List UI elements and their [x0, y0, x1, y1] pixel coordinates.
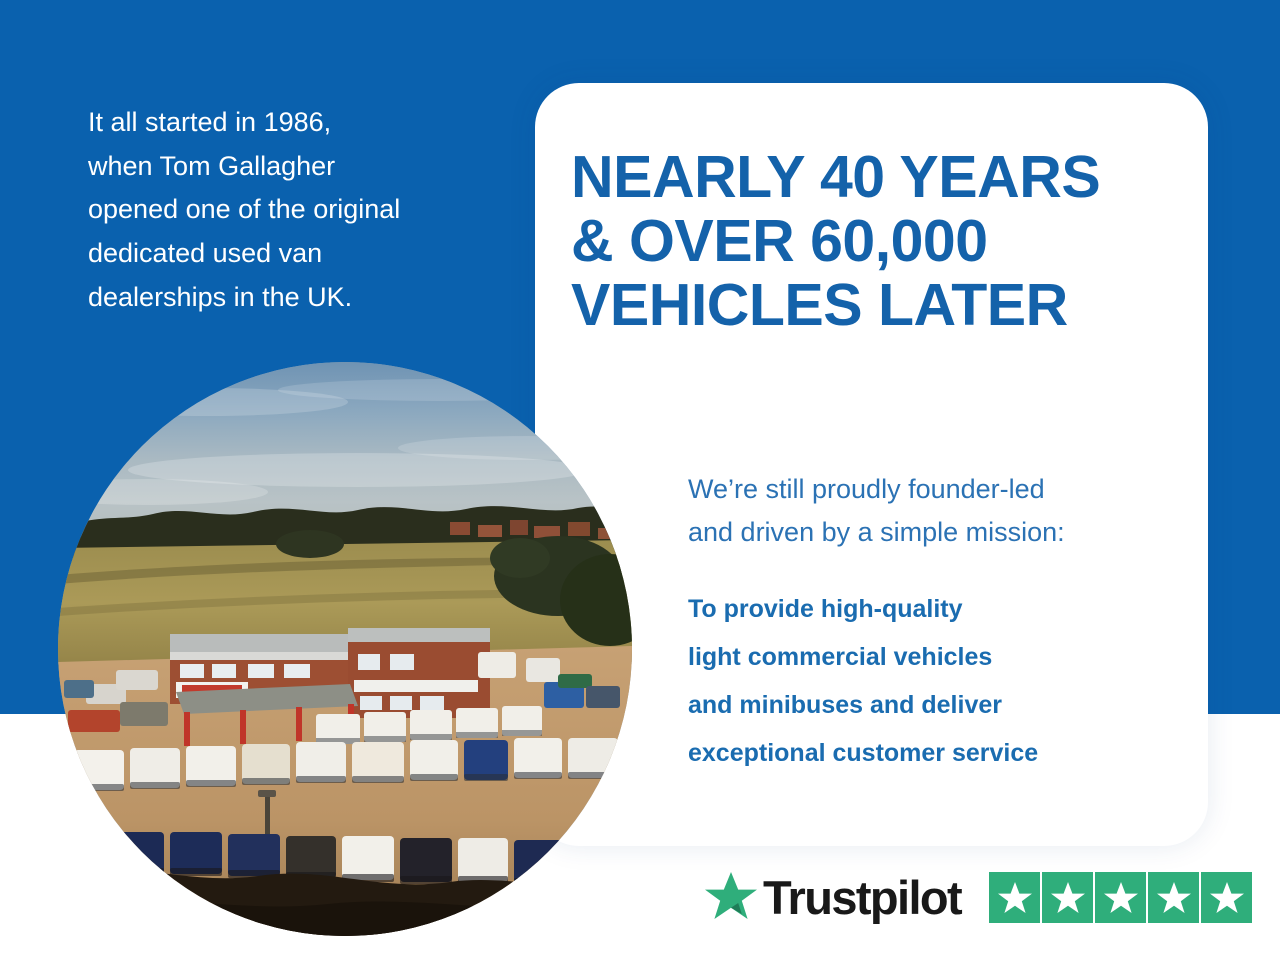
- trustpilot-star-1[interactable]: [989, 872, 1040, 923]
- headline-line-2: & OVER 60,000: [571, 209, 1191, 273]
- trustpilot-star-5[interactable]: [1201, 872, 1252, 923]
- intro-line-1: It all started in 1986,: [88, 101, 508, 145]
- star-icon: [1210, 881, 1244, 914]
- subhead-line-1: We’re still proudly founder-led: [688, 468, 1188, 511]
- star-icon: [1104, 881, 1138, 914]
- trustpilot-wordmark: Trustpilot: [763, 874, 961, 921]
- subheading-text: We’re still proudly founder-led and driv…: [688, 468, 1188, 553]
- intro-line-5: dealerships in the UK.: [88, 276, 508, 320]
- trustpilot-rating[interactable]: Trustpilot: [703, 866, 1252, 928]
- trustpilot-logo[interactable]: Trustpilot: [703, 866, 961, 928]
- star-icon: [1157, 881, 1191, 914]
- trustpilot-star-4[interactable]: [1148, 872, 1199, 923]
- content-card: NEARLY 40 YEARS & OVER 60,000 VEHICLES L…: [535, 83, 1208, 846]
- trustpilot-star-3[interactable]: [1095, 872, 1146, 923]
- mission-line-1: To provide high-quality: [688, 585, 1188, 633]
- trustpilot-stars[interactable]: [989, 872, 1252, 923]
- trustpilot-star-2[interactable]: [1042, 872, 1093, 923]
- intro-line-3: opened one of the original: [88, 188, 508, 232]
- star-icon: [998, 881, 1032, 914]
- mission-line-2: light commercial vehicles: [688, 633, 1188, 681]
- star-icon: [1051, 881, 1085, 914]
- intro-line-2: when Tom Gallagher: [88, 145, 508, 189]
- intro-line-4: dedicated used van: [88, 232, 508, 276]
- headline-line-1: NEARLY 40 YEARS: [571, 145, 1191, 209]
- page-title: NEARLY 40 YEARS & OVER 60,000 VEHICLES L…: [571, 145, 1191, 337]
- intro-paragraph: It all started in 1986, when Tom Gallagh…: [88, 101, 508, 320]
- mission-statement: To provide high-quality light commercial…: [688, 585, 1188, 777]
- mission-line-3: and minibuses and deliver: [688, 681, 1188, 729]
- dealership-photo: [58, 362, 632, 936]
- subhead-line-2: and driven by a simple mission:: [688, 511, 1188, 554]
- headline-line-3: VEHICLES LATER: [571, 273, 1191, 337]
- trustpilot-star-icon: [703, 870, 759, 924]
- mission-line-4: exceptional customer service: [688, 729, 1188, 777]
- dealership-photo-illustration: [58, 362, 632, 936]
- infographic-canvas: It all started in 1986, when Tom Gallagh…: [0, 0, 1280, 960]
